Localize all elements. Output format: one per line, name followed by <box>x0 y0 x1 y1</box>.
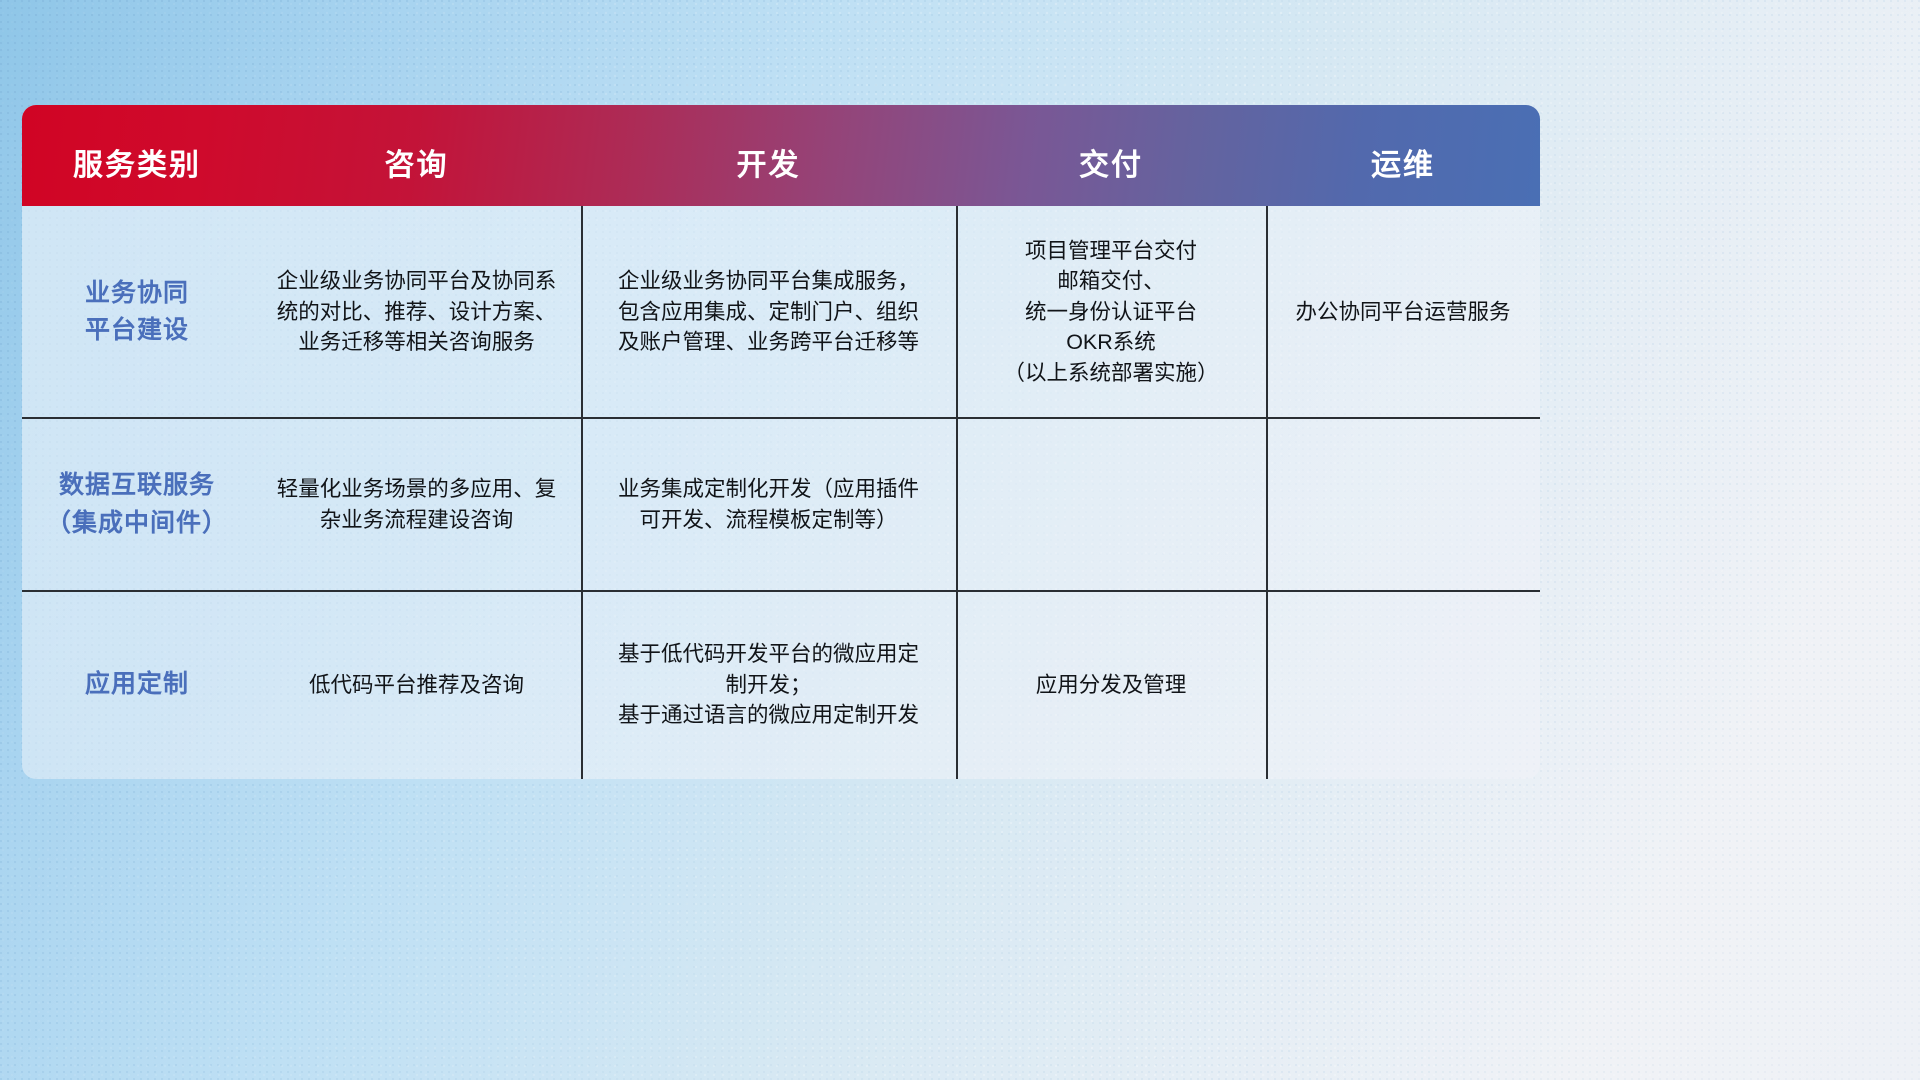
cell-delivery-r2 <box>956 418 1266 591</box>
cell-consulting-r2: 轻量化业务场景的多应用、复 杂业务流程建设咨询 <box>252 418 581 591</box>
row-divider-2 <box>22 590 1540 592</box>
cell-consulting-r1: 企业级业务协同平台及协同系 统的对比、推荐、设计方案、 业务迁移等相关咨询服务 <box>252 206 581 418</box>
column-divider-2 <box>956 206 958 779</box>
cell-delivery-r1: 项目管理平台交付 邮箱交付、 统一身份认证平台 OKR系统 （以上系统部署实施） <box>956 206 1266 418</box>
cell-consulting-r3: 低代码平台推荐及咨询 <box>252 591 581 779</box>
column-header-consulting[interactable]: 咨询 <box>252 140 581 206</box>
table-row: 数据互联服务 （集成中间件） 轻量化业务场景的多应用、复 杂业务流程建设咨询 业… <box>22 418 1540 591</box>
row-label-app-customization: 应用定制 <box>22 591 252 779</box>
cell-operations-r3 <box>1266 591 1540 779</box>
cell-development-r3: 基于低代码开发平台的微应用定 制开发； 基于通过语言的微应用定制开发 <box>581 591 956 779</box>
cell-operations-r1: 办公协同平台运营服务 <box>1266 206 1540 418</box>
table-row: 业务协同 平台建设 企业级业务协同平台及协同系 统的对比、推荐、设计方案、 业务… <box>22 206 1540 418</box>
table-body: 业务协同 平台建设 企业级业务协同平台及协同系 统的对比、推荐、设计方案、 业务… <box>22 206 1540 779</box>
table-row: 应用定制 低代码平台推荐及咨询 基于低代码开发平台的微应用定 制开发； 基于通过… <box>22 591 1540 779</box>
column-header-service-category[interactable]: 服务类别 <box>22 140 252 206</box>
cell-delivery-r3: 应用分发及管理 <box>956 591 1266 779</box>
column-header-operations[interactable]: 运维 <box>1266 140 1540 206</box>
row-label-data-interconnect: 数据互联服务 （集成中间件） <box>22 418 252 591</box>
cell-operations-r2 <box>1266 418 1540 591</box>
service-matrix-table: 服务类别 咨询 开发 交付 运维 业务协同 平台建设 企业级业务协同平台及协同系… <box>22 105 1540 779</box>
cell-development-r1: 企业级业务协同平台集成服务， 包含应用集成、定制门户、组织 及账户管理、业务跨平… <box>581 206 956 418</box>
column-header-development[interactable]: 开发 <box>581 140 956 206</box>
column-divider-3 <box>1266 206 1268 779</box>
row-divider-1 <box>22 417 1540 419</box>
row-label-business-collaboration: 业务协同 平台建设 <box>22 206 252 418</box>
column-divider-1 <box>581 206 583 779</box>
column-header-delivery[interactable]: 交付 <box>956 140 1266 206</box>
cell-development-r2: 业务集成定制化开发（应用插件 可开发、流程模板定制等） <box>581 418 956 591</box>
table-header-row: 服务类别 咨询 开发 交付 运维 <box>22 105 1540 206</box>
